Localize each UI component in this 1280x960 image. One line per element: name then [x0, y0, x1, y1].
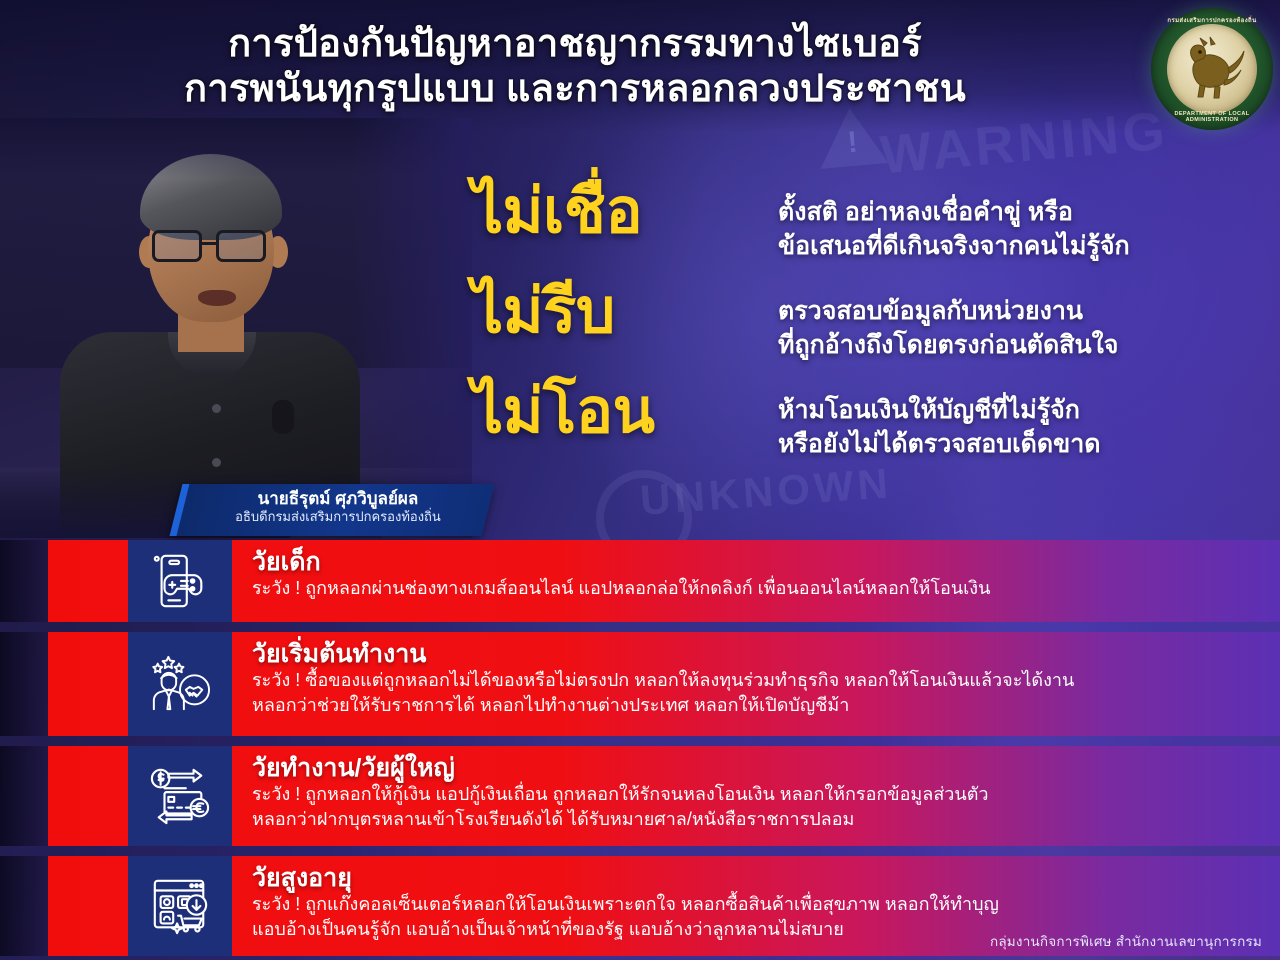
- eyeglass-lens-right: [216, 230, 266, 262]
- suit-button-2: [212, 458, 221, 467]
- speaker-photo: [0, 118, 472, 538]
- age-group-line-2-2: หลอกว่าช่วยให้รับราชการได้ หลอกไปทำงานต่…: [252, 693, 1260, 718]
- age-group-line-4-1: ระวัง ! ถูกแก๊งคอลเซ็นเตอร์หลอกให้โอนเงิ…: [252, 892, 1260, 917]
- age-group-list: วัยเด็ก ระวัง ! ถูกหลอกผ่านช่องทางเกมส์อ…: [0, 540, 1280, 960]
- age-group-line-2-1: ระวัง ! ซื้อของแต่ถูกหลอกไม่ได้ของหรือไม…: [252, 668, 1260, 693]
- speaker-name: นายธีรุตม์ ศุภวิบูลย์ผล: [194, 489, 481, 509]
- speaker-mouth: [198, 290, 236, 306]
- microphone-head: [272, 400, 294, 434]
- age-group-line-3-2: หลอกว่าฝากบุตรหลานเข้าโรงเรียนดังได้ ได้…: [252, 807, 1260, 832]
- age-group-line-3-1: ระวัง ! ถูกหลอกให้กู้เงิน แอปกู้เงินเถื่…: [252, 782, 1260, 807]
- page-title: การป้องกันปัญหาอาชญากรรมทางไซเบอร์ การพน…: [0, 22, 1150, 112]
- age-group-row-child: วัยเด็ก ระวัง ! ถูกหลอกผ่านช่องทางเกมส์อ…: [0, 540, 1280, 622]
- title-line-2: การพนันทุกรูปแบบ และการหลอกลวงประชาชน: [0, 67, 1150, 112]
- row-left-shade-1: [0, 540, 48, 622]
- slogan-list: ไม่เชื่อ ไม่รีบ ไม่โอน: [472, 180, 762, 480]
- footer-credit: กลุ่มงานกิจการพิเศษ สำนักงานเลขานุการกรม: [990, 930, 1262, 952]
- row-text-4: วัยสูงอายุ ระวัง ! ถูกแก๊งคอลเซ็นเตอร์หล…: [252, 856, 1260, 942]
- age-group-title-1: วัยเด็ก: [252, 548, 1260, 576]
- age-group-row-working-adult: วัยทำงาน/วัยผู้ใหญ่ ระวัง ! ถูกหลอกให้กู…: [0, 746, 1280, 846]
- emblem-logo: กรมส่งเสริมการปกครองท้องถิ่น DEPARTMENT …: [1151, 8, 1273, 130]
- slogan-desc-1-line-2: ข้อเสนอที่ดีเกินจริงจากคนไม่รู้จัก: [778, 230, 1248, 264]
- slogan-description-3: ห้ามโอนเงินให้บัญชีที่ไม่รู้จัก หรือยังไ…: [778, 394, 1248, 461]
- slogan-desc-2-line-2: ที่ถูกอ้างถึงโดยตรงก่อนตัดสินใจ: [778, 329, 1248, 363]
- slogan-description-2: ตรวจสอบข้อมูลกับหน่วยงาน ที่ถูกอ้างถึงโด…: [778, 295, 1248, 362]
- slogan-description-list: ตั้งสติ อย่าหลงเชื่อคำขู่ หรือ ข้อเสนอที…: [778, 196, 1248, 493]
- online-shopping-browser-cart-icon: [128, 856, 232, 956]
- money-transfer-dollar-euro-icon: [128, 746, 232, 846]
- age-group-line-1-1: ระวัง ! ถูกหลอกผ่านช่องทางเกมส์ออนไลน์ แ…: [252, 576, 1260, 601]
- age-group-title-3: วัยทำงาน/วัยผู้ใหญ่: [252, 754, 1260, 782]
- row-left-shade-4: [0, 856, 48, 956]
- row-text-3: วัยทำงาน/วัยผู้ใหญ่ ระวัง ! ถูกหลอกให้กู…: [252, 746, 1260, 832]
- row-text-2: วัยเริ่มต้นทำงาน ระวัง ! ซื้อของแต่ถูกหล…: [252, 632, 1260, 718]
- slogan-keyword-1: ไม่เชื่อ: [472, 180, 762, 280]
- eyeglass-bridge: [202, 242, 218, 245]
- slogan-keyword-2: ไม่รีบ: [472, 280, 762, 380]
- row-left-shade-3: [0, 746, 48, 846]
- poster-canvas: WARNING UNKNOWN การป้องกันปัญหาอาชญากรรม…: [0, 0, 1280, 960]
- emblem-inner-disc: [1167, 24, 1257, 114]
- title-line-1: การป้องกันปัญหาอาชญากรรมทางไซเบอร์: [0, 22, 1150, 67]
- photo-fade-right: [352, 118, 472, 538]
- age-group-title-4: วัยสูงอายุ: [252, 864, 1260, 892]
- speaker-role: อธิบดีกรมส่งเสริมการปกครองท้องถิ่น: [194, 509, 481, 525]
- suit-button-1: [212, 404, 221, 413]
- emblem-ring-text-bottom: DEPARTMENT OF LOCAL ADMINISTRATION: [1151, 111, 1273, 123]
- slogan-desc-3-line-1: ห้ามโอนเงินให้บัญชีที่ไม่รู้จัก: [778, 394, 1248, 428]
- slogan-description-1: ตั้งสติ อย่าหลงเชื่อคำขู่ หรือ ข้อเสนอที…: [778, 196, 1248, 263]
- row-left-shade-2: [0, 632, 48, 736]
- singha-lion-icon: [1167, 24, 1257, 114]
- eyeglass-lens-left: [152, 230, 202, 262]
- slogan-desc-3-line-2: หรือยังไม่ได้ตรวจสอบเด็ดขาด: [778, 428, 1248, 462]
- slogan-keyword-3: ไม่โอน: [472, 380, 762, 480]
- speaker-name-plate: นายธีรุตม์ ศุภวิบูลย์ผล อธิบดีกรมส่งเสริ…: [170, 484, 495, 536]
- eyeglasses-icon: [152, 230, 274, 264]
- age-group-title-2: วัยเริ่มต้นทำงาน: [252, 640, 1260, 668]
- row-text-1: วัยเด็ก ระวัง ! ถูกหลอกผ่านช่องทางเกมส์อ…: [252, 540, 1260, 601]
- age-group-row-early-career: วัยเริ่มต้นทำงาน ระวัง ! ซื้อของแต่ถูกหล…: [0, 632, 1280, 736]
- slogan-desc-1-line-1: ตั้งสติ อย่าหลงเชื่อคำขู่ หรือ: [778, 196, 1248, 230]
- slogan-desc-2-line-1: ตรวจสอบข้อมูลกับหน่วยงาน: [778, 295, 1248, 329]
- mobile-game-controller-icon: [128, 540, 232, 622]
- emblem-ring-text-top: กรมส่งเสริมการปกครองท้องถิ่น: [1151, 15, 1273, 25]
- businessman-stars-handshake-icon: [128, 632, 232, 736]
